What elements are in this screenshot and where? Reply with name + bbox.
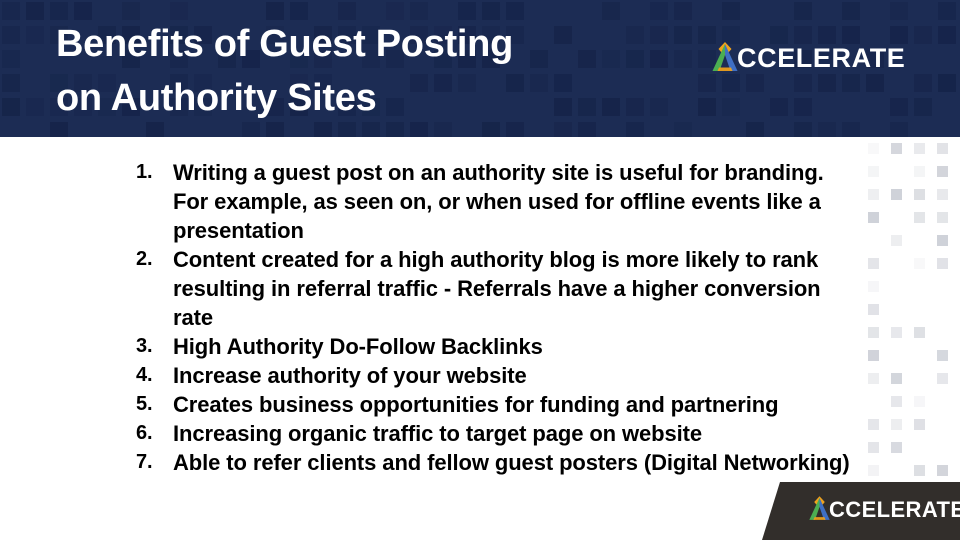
list-item-number: 3.	[132, 332, 173, 361]
list-item: 5. Creates business opportunities for fu…	[132, 390, 862, 419]
list-item-number: 5.	[132, 390, 173, 419]
list-item-text: High Authority Do-Follow Backlinks	[173, 332, 862, 361]
list-item-number: 6.	[132, 419, 173, 448]
accelerate-wordmark: CCELERATE	[737, 45, 905, 72]
list-item-number: 4.	[132, 361, 173, 390]
list-item-text: Increase authority of your website	[173, 361, 862, 390]
list-item: 6. Increasing organic traffic to target …	[132, 419, 862, 448]
list-item-text: Creates business opportunities for fundi…	[173, 390, 862, 419]
page-title: Benefits of Guest Posting on Authority S…	[56, 17, 676, 125]
list-item: 4. Increase authority of your website	[132, 361, 862, 390]
list-item-number: 2.	[132, 245, 173, 274]
list-item: 1. Writing a guest post on an authority …	[132, 158, 862, 245]
list-item: 7. Able to refer clients and fellow gues…	[132, 448, 862, 477]
list-item: 3. High Authority Do-Follow Backlinks	[132, 332, 862, 361]
slide-header: Benefits of Guest Posting on Authority S…	[0, 0, 960, 137]
slide-canvas: Benefits of Guest Posting on Authority S…	[0, 0, 960, 540]
accelerate-logo-badge: CCELERATE	[804, 493, 960, 524]
list-item-number: 1.	[132, 158, 173, 187]
list-item-text: Content created for a high authority blo…	[173, 245, 862, 332]
accelerate-wordmark: CCELERATE	[829, 499, 960, 521]
accelerate-logo-header[interactable]: CCELERATE	[706, 38, 905, 76]
list-item-number: 7.	[132, 448, 173, 477]
accelerate-corner-badge[interactable]: CCELERATE	[762, 482, 960, 540]
list-item-text: Able to refer clients and fellow guest p…	[173, 448, 862, 477]
decorative-square-grid	[860, 137, 960, 540]
benefits-list: 1. Writing a guest post on an authority …	[132, 158, 862, 477]
list-item: 2. Content created for a high authority …	[132, 245, 862, 332]
list-item-text: Increasing organic traffic to target pag…	[173, 419, 862, 448]
list-item-text: Writing a guest post on an authority sit…	[173, 158, 862, 245]
